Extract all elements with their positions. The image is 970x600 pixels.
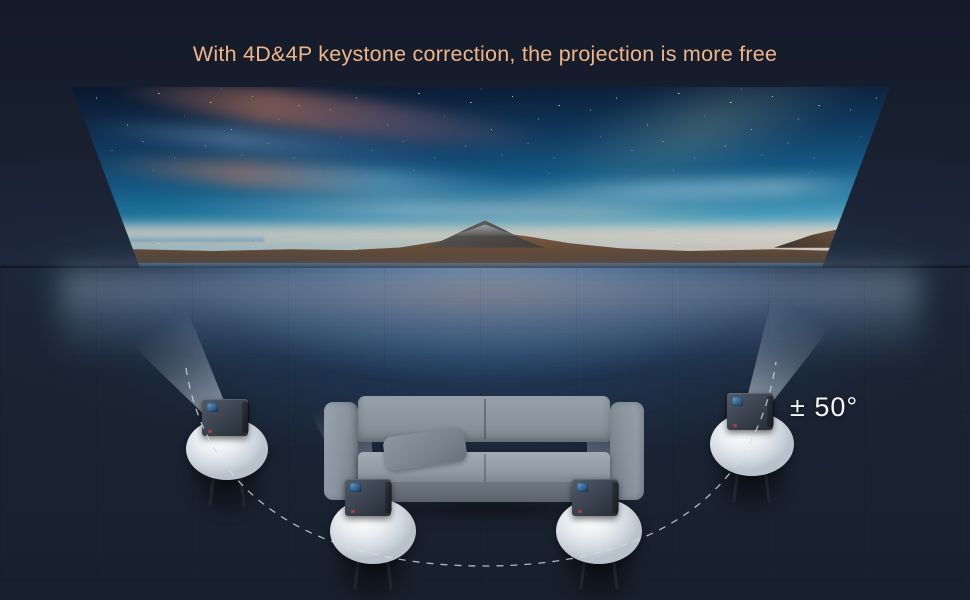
projector-left-station	[186, 418, 268, 540]
projector-right-indicator-light	[733, 424, 737, 427]
angle-label: ± 50°	[790, 392, 858, 423]
projected-photo	[60, 80, 910, 275]
projector-right-station	[710, 412, 794, 536]
projector-bottom-left[interactable]	[345, 479, 391, 516]
scene-root: With 4D&4P keystone correction, the proj…	[0, 0, 970, 600]
projector-bottom-left-body-side	[385, 482, 392, 513]
projector-bottom-right-station	[556, 498, 642, 600]
projector-left-lens-icon	[207, 403, 218, 413]
projector-bottom-left-indicator-light	[351, 510, 355, 513]
projector-right[interactable]	[727, 393, 773, 430]
projector-bottom-right-body-side	[612, 482, 619, 513]
projector-bottom-left-station	[330, 498, 416, 600]
page-title: With 4D&4P keystone correction, the proj…	[0, 42, 970, 67]
projector-bottom-right[interactable]	[572, 479, 618, 516]
projector-left-body-side	[242, 402, 249, 433]
projector-bottom-right-indicator-light	[578, 510, 582, 513]
projector-left-indicator-light	[208, 430, 212, 433]
projector-left[interactable]	[202, 399, 248, 436]
projector-right-body-side	[767, 396, 774, 427]
projector-bottom-left-lens-icon	[350, 483, 361, 493]
projector-bottom-right-lens-icon	[577, 483, 588, 493]
projector-right-lens-icon	[732, 397, 743, 407]
